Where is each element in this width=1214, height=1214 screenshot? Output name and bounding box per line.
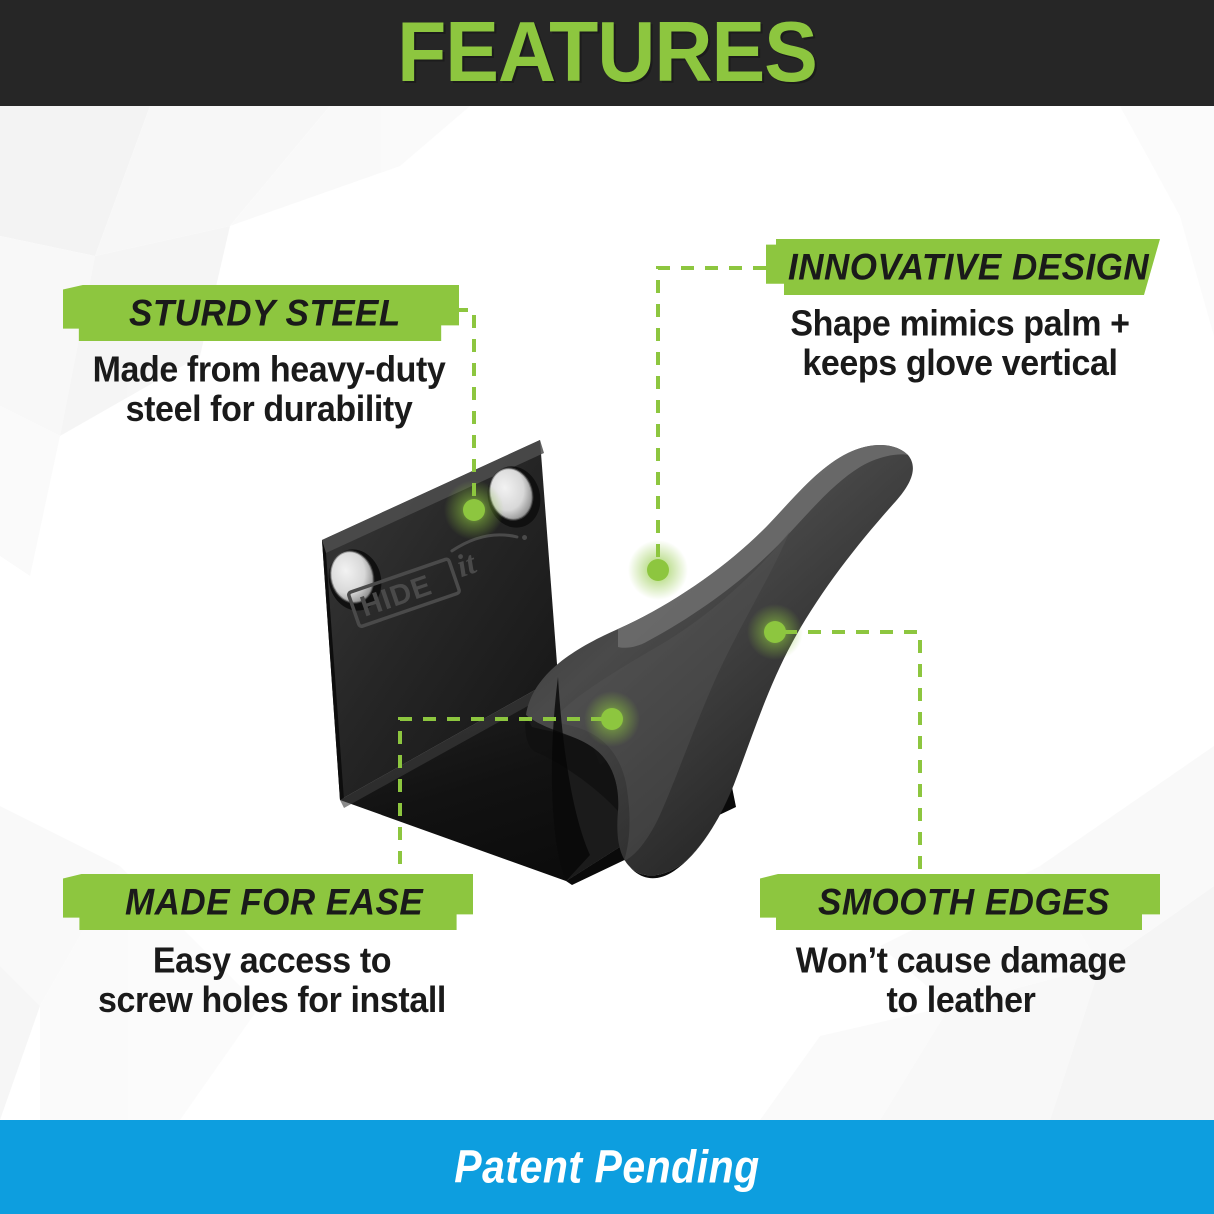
callout-banner-innovative-design: INNOVATIVE DESIGN bbox=[760, 239, 1160, 295]
callout-sturdy-steel: STURDY STEEL Made from heavy-duty steel … bbox=[63, 285, 483, 424]
callout-smooth-edges: SMOOTH EDGES Won’t cause damage to leath… bbox=[760, 874, 1180, 1015]
header-bar: FEATURES bbox=[0, 0, 1214, 106]
product-image-wall-mount-bracket: HIDE it bbox=[300, 415, 940, 885]
callout-title-made-for-ease: MADE FOR EASE bbox=[125, 884, 423, 921]
callout-banner-sturdy-steel: STURDY STEEL bbox=[63, 285, 459, 341]
footer-bar: Patent Pending bbox=[0, 1120, 1214, 1214]
callout-banner-made-for-ease: MADE FOR EASE bbox=[63, 874, 473, 930]
callout-description-made-for-ease: Easy access to screw holes for install bbox=[57, 942, 487, 1020]
callout-title-smooth-edges: SMOOTH EDGES bbox=[818, 884, 1110, 921]
page-title: FEATURES bbox=[397, 10, 817, 95]
infographic-page: HIDE it bbox=[0, 0, 1214, 1214]
patent-pending-label: Patent Pending bbox=[454, 1141, 759, 1194]
callout-description-innovative-design: Shape mimics palm + keeps glove vertical bbox=[760, 305, 1160, 383]
callout-description-smooth-edges: Won’t cause damage to leather bbox=[760, 942, 1162, 1020]
callout-description-sturdy-steel: Made from heavy-duty steel for durabilit… bbox=[59, 351, 479, 429]
callout-title-sturdy-steel: STURDY STEEL bbox=[129, 295, 401, 332]
callout-banner-smooth-edges: SMOOTH EDGES bbox=[760, 874, 1160, 930]
callout-made-for-ease: MADE FOR EASE Easy access to screw holes… bbox=[63, 874, 493, 1015]
callout-innovative-design: INNOVATIVE DESIGN Shape mimics palm + ke… bbox=[760, 239, 1180, 378]
callout-title-innovative-design: INNOVATIVE DESIGN bbox=[788, 249, 1149, 286]
